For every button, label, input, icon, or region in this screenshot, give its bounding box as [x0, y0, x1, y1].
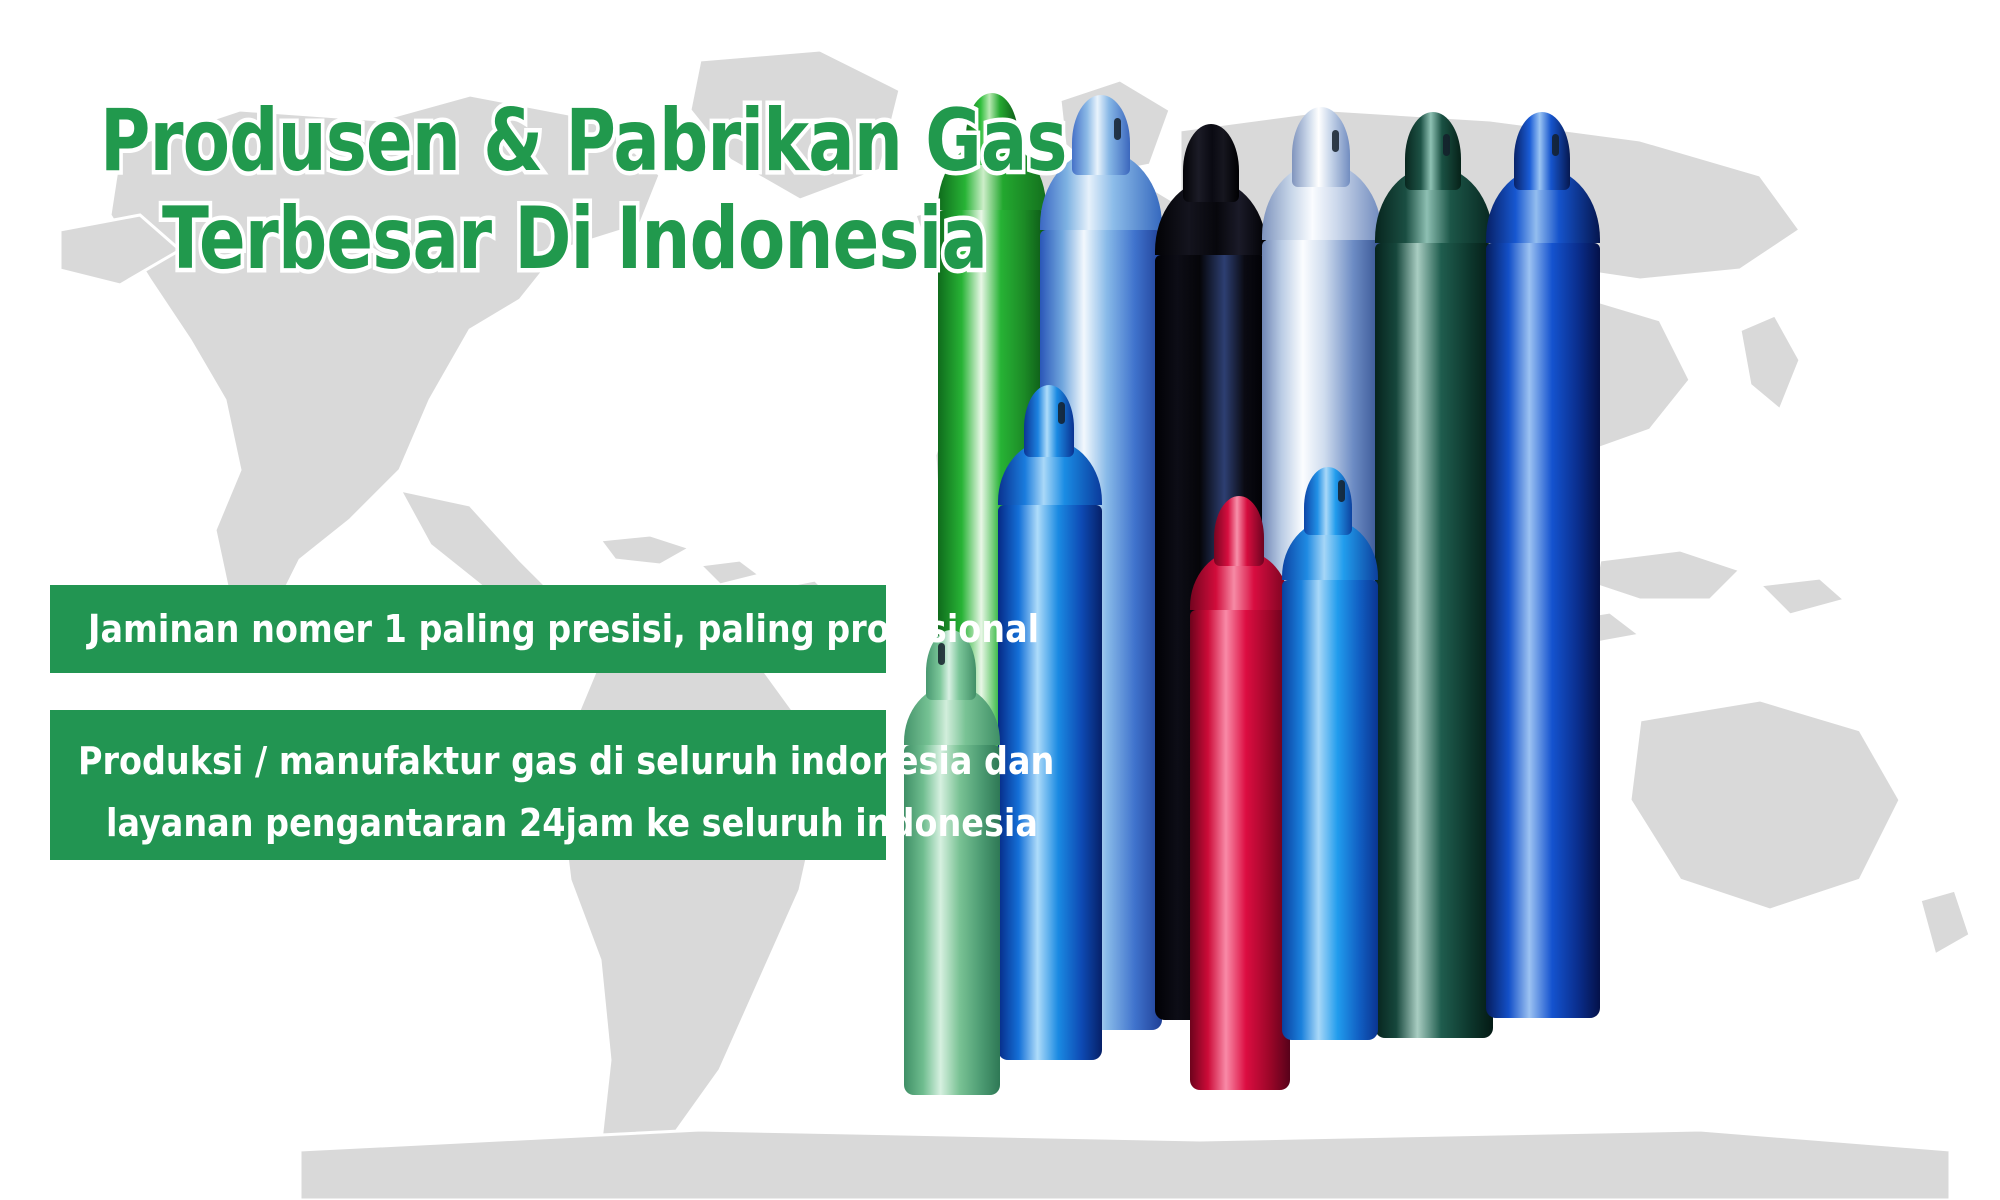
callout-guarantee-text: Jaminan nomer 1 paling presisi, paling p… [88, 598, 1039, 660]
callout-production-line-2: layanan pengantaran 24jam ke seluruh ind… [106, 792, 792, 854]
headline-line-1: Produsen & Pabrikan Gas [100, 92, 900, 190]
callout-production-line-1: Produksi / manufaktur gas di seluruh ind… [78, 730, 789, 792]
headline-line-2: Terbesar Di Indonesia [162, 190, 912, 288]
promo-banner: Produsen & Pabrikan Gas Terbesar Di Indo… [0, 0, 2000, 1200]
callout-guarantee: Jaminan nomer 1 paling presisi, paling p… [50, 585, 886, 673]
headline: Produsen & Pabrikan Gas Terbesar Di Indo… [100, 92, 1100, 288]
cylinder-dark-green [1375, 166, 1493, 1038]
cylinder-royal-blue [1486, 168, 1600, 1018]
cylinder-sky-blue [1282, 520, 1378, 1040]
cylinder-crimson-red [1190, 550, 1290, 1090]
callout-production: Produksi / manufaktur gas di seluruh ind… [50, 710, 886, 860]
